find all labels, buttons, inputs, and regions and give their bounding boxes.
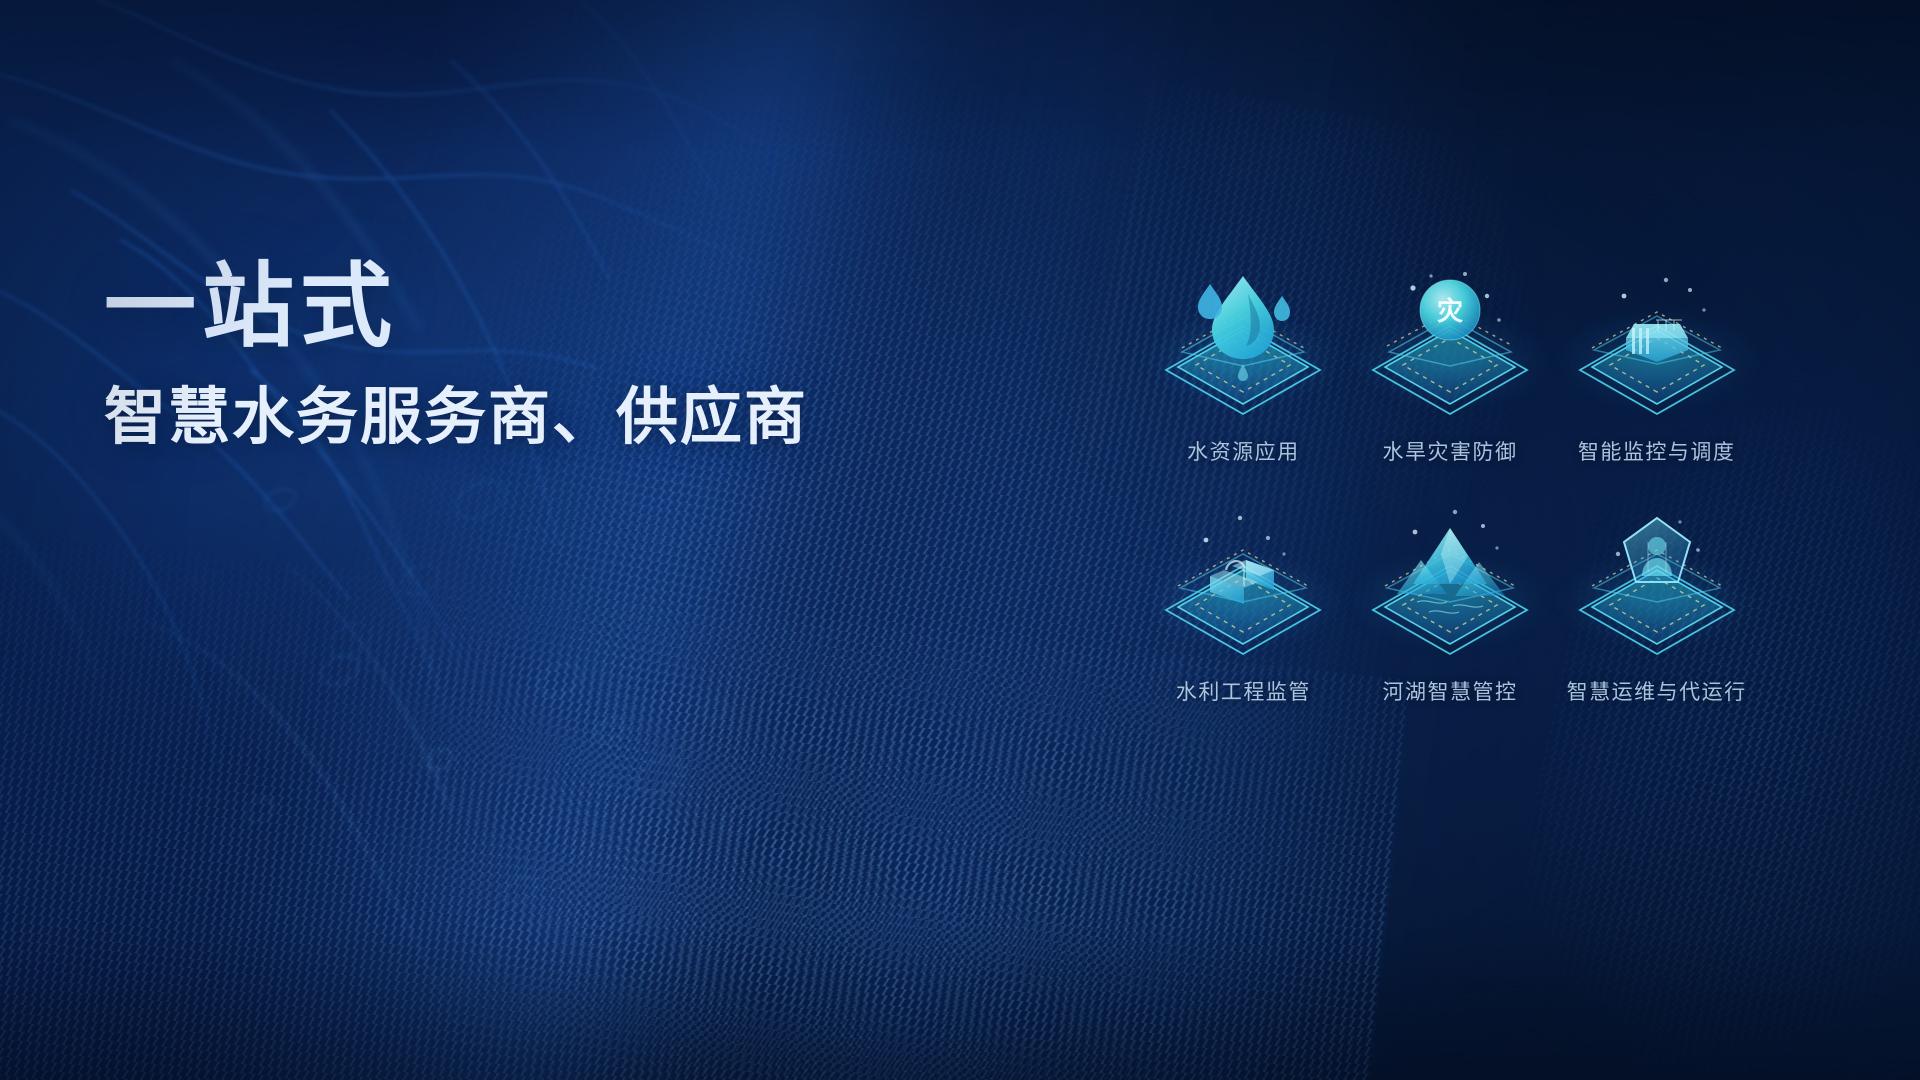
service-item-flood-drought-defense[interactable]: 灾 水旱灾害防御 [1347,262,1554,502]
service-item-label: 水旱灾害防御 [1382,436,1517,466]
shield-operator-platform-icon [1562,502,1752,672]
service-item-label: 智慧运维与代运行 [1567,676,1747,706]
service-item-label: 水利工程监管 [1176,676,1311,706]
service-item-label: 水资源应用 [1187,436,1300,466]
service-item-hydro-project-supervision[interactable]: 水利工程监管 [1140,502,1347,742]
service-item-label: 河湖智慧管控 [1382,676,1517,706]
service-item-water-resource[interactable]: 水资源应用 [1140,262,1347,502]
service-item-river-lake-control[interactable]: 河湖智慧管控 [1347,502,1554,742]
dam-monitor-platform-icon [1562,262,1752,432]
headline-block: 一站式 智慧水务服务商、供应商 [104,258,864,453]
service-icon-grid: 水资源应用 [1140,262,1760,742]
disaster-badge-char: 灾 [1437,296,1463,326]
light-sweep-primary [103,0,1058,1080]
hydro-facility-platform-icon [1148,502,1338,672]
service-item-smart-monitor-dispatch[interactable]: 智能监控与调度 [1553,262,1760,502]
headline-main: 一站式 [104,258,864,357]
water-drop-platform-icon [1148,262,1338,432]
hero-banner: 一站式 智慧水务服务商、供应商 [0,0,1920,1080]
disaster-sphere-platform-icon: 灾 [1355,262,1545,432]
service-item-smart-ops-outsourcing[interactable]: 智慧运维与代运行 [1553,502,1760,742]
river-mountain-platform-icon [1355,502,1545,672]
water-bubble-texture [140,560,1040,1080]
headline-sub: 智慧水务服务商、供应商 [104,383,864,452]
service-item-label: 智能监控与调度 [1578,436,1736,466]
